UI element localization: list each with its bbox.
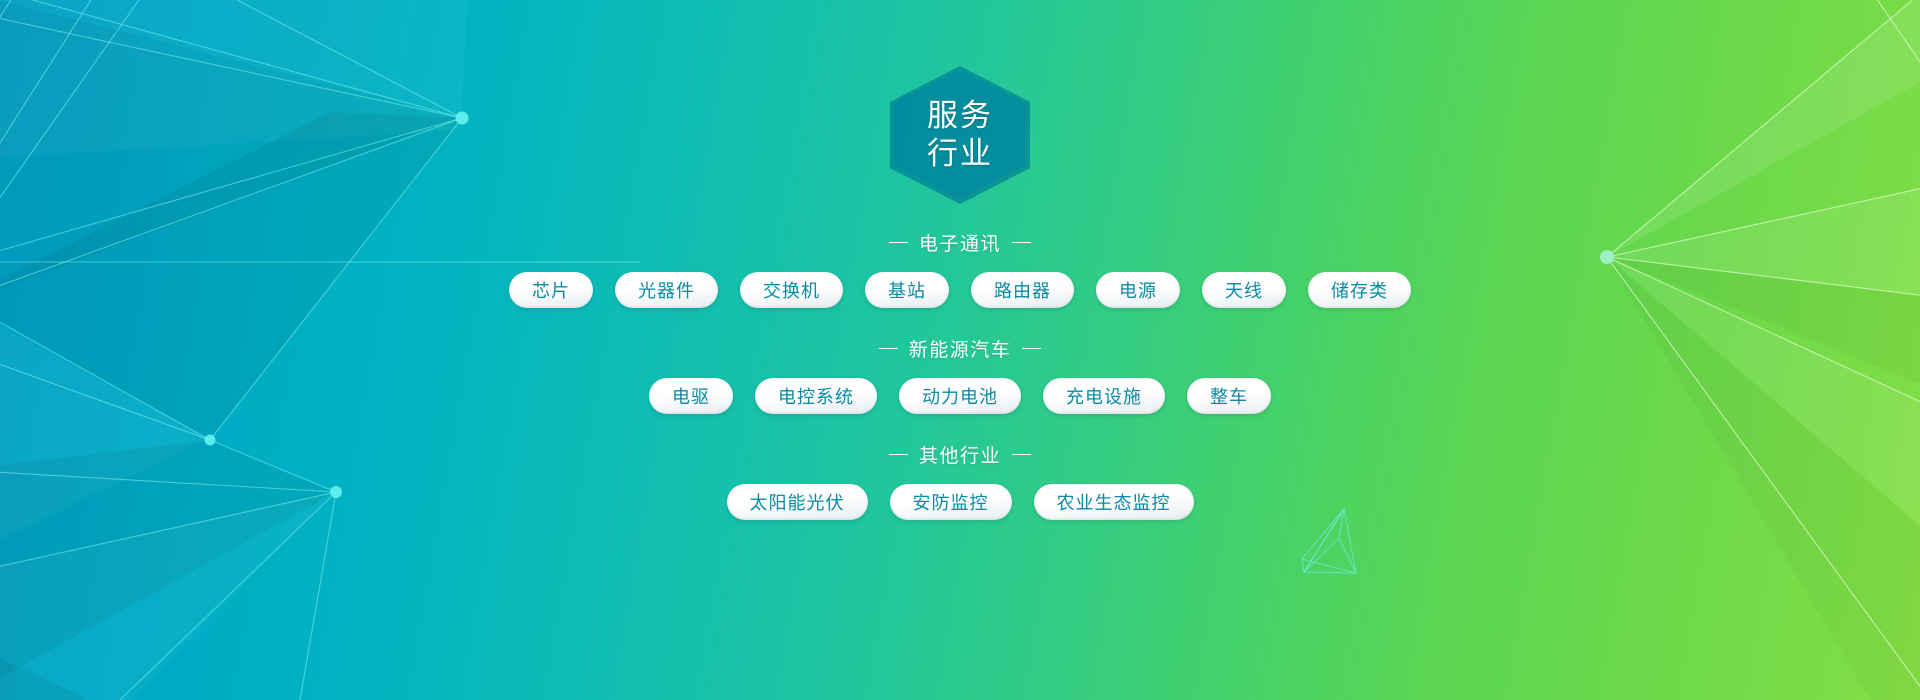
tag-control-system[interactable]: 电控系统: [755, 378, 877, 414]
heading-dash-left-icon: [889, 242, 908, 244]
tag-row-electronics-communication: 芯片 光器件 交换机 基站 路由器 电源 天线 储存类: [509, 272, 1411, 308]
section-heading-label: 其他行业: [919, 441, 1001, 468]
tag-power-supply[interactable]: 电源: [1096, 272, 1180, 308]
tag-charging-facility[interactable]: 充电设施: [1043, 378, 1165, 414]
tag-switch[interactable]: 交换机: [740, 272, 843, 308]
hexagon-label: 服务 行业: [927, 97, 993, 173]
heading-dash-left-icon: [889, 454, 908, 456]
banner-content: 服务 行业 电子通讯 芯片 光器件 交换机 基站 路由器 电源 天线 储存类 新…: [0, 0, 1920, 700]
tag-whole-vehicle[interactable]: 整车: [1187, 378, 1271, 414]
hexagon-label-line2: 行业: [927, 135, 993, 173]
tag-storage[interactable]: 储存类: [1308, 272, 1411, 308]
tag-security-monitoring[interactable]: 安防监控: [890, 484, 1012, 520]
tag-chip[interactable]: 芯片: [509, 272, 593, 308]
section-heading-label: 新能源汽车: [909, 335, 1012, 362]
hexagon-label-line1: 服务: [927, 97, 993, 135]
tag-power-battery[interactable]: 动力电池: [899, 378, 1021, 414]
tag-row-new-energy-vehicle: 电驱 电控系统 动力电池 充电设施 整车: [649, 378, 1271, 414]
service-industry-banner: 服务 行业 电子通讯 芯片 光器件 交换机 基站 路由器 电源 天线 储存类 新…: [0, 0, 1920, 700]
service-industry-hex-badge: 服务 行业: [890, 66, 1030, 204]
tag-solar-pv[interactable]: 太阳能光伏: [727, 484, 868, 520]
section-heading-label: 电子通讯: [919, 229, 1001, 256]
section-heading-electronics-communication: 电子通讯: [889, 229, 1031, 256]
tag-antenna[interactable]: 天线: [1202, 272, 1286, 308]
heading-dash-right-icon: [1012, 454, 1031, 456]
tag-agriculture-eco-monitoring[interactable]: 农业生态监控: [1034, 484, 1194, 520]
section-heading-other-industries: 其他行业: [889, 441, 1031, 468]
tag-router[interactable]: 路由器: [971, 272, 1074, 308]
heading-dash-right-icon: [1022, 348, 1041, 350]
section-heading-new-energy-vehicle: 新能源汽车: [879, 335, 1042, 362]
heading-dash-left-icon: [879, 348, 898, 350]
tag-optical[interactable]: 光器件: [615, 272, 718, 308]
heading-dash-right-icon: [1012, 242, 1031, 244]
tag-row-other-industries: 太阳能光伏 安防监控 农业生态监控: [727, 484, 1194, 520]
tag-base-station[interactable]: 基站: [865, 272, 949, 308]
tag-edrive[interactable]: 电驱: [649, 378, 733, 414]
